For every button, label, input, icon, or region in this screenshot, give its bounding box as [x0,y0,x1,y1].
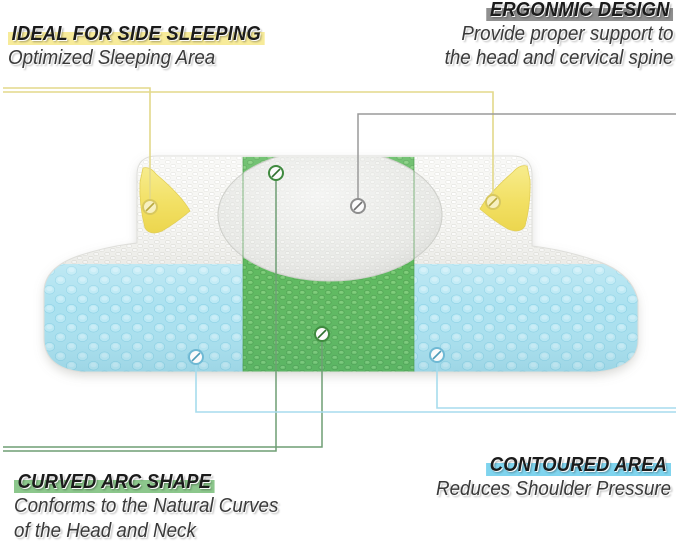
callout-heading-ergonomic-design: ERGONMIC DESIGN [486,0,673,22]
callout-heading-contoured-area: CONTOURED AREA [486,455,671,477]
callout-subtitle-line-1: Provide proper support to [444,22,673,46]
callout-heading-text: CURVED ARC SHAPE [18,471,211,493]
callout-ideal-side-sleeping: IDEAL FOR SIDE SLEEPING Optimized Sleepi… [8,24,287,70]
callout-subtitle-line-1: Conforms to the Natural Curves [14,494,278,518]
callout-heading-text: IDEAL FOR SIDE SLEEPING [12,23,261,45]
callout-subtitle-line-2: of the Head and Neck [14,519,278,543]
callout-subtitle-ideal-side-sleeping: Optimized Sleeping Area [8,46,270,70]
callout-subtitle-line-2: the head and cervical spine [444,46,673,70]
callout-subtitle-contoured-area: Reduces Shoulder Pressure [436,477,671,501]
callout-heading-text: CONTOURED AREA [490,454,667,476]
callout-curved-arc-shape: CURVED ARC SHAPE Conforms to the Natural… [14,472,295,543]
callout-heading-ideal-side-sleeping: IDEAL FOR SIDE SLEEPING [8,24,265,46]
callout-heading-text: ERGONMIC DESIGN [490,0,670,21]
callout-heading-curved-arc-shape: CURVED ARC SHAPE [14,472,215,494]
infographic-canvas: IDEAL FOR SIDE SLEEPING Optimized Sleepi… [0,0,679,551]
callout-contoured-area: CONTOURED AREA Reduces Shoulder Pressure [421,455,671,501]
callout-ergonomic-design: ERGONMIC DESIGN Provide proper support t… [430,0,674,71]
head-cradle-zone [218,149,442,281]
